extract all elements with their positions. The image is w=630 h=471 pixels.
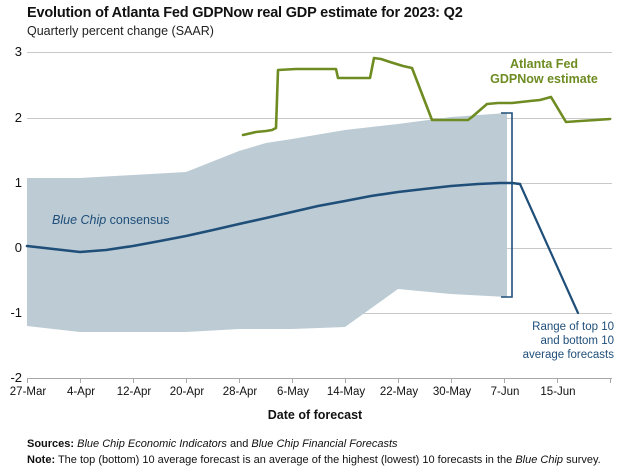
chart-container: Evolution of Atlanta Fed GDPNow real GDP…: [0, 0, 630, 471]
x-axis-title: Date of forecast: [0, 408, 630, 422]
bluechip-annotation: Blue Chip consensus: [52, 213, 169, 227]
x-tick-30-may: 30-May: [422, 386, 482, 398]
note-label: Note:: [27, 454, 55, 466]
x-tick-12-apr: 12-Apr: [104, 386, 164, 398]
x-tick-22-may: 22-May: [369, 386, 429, 398]
x-tick-7-jun: 7-Jun: [475, 386, 535, 398]
note-italic: Blue Chip: [515, 454, 563, 466]
y-tick-2: 2: [0, 110, 22, 125]
note-line: Note: The top (bottom) 10 average foreca…: [27, 453, 617, 469]
x-tick-28-apr: 28-Apr: [210, 386, 270, 398]
sources-and: and: [227, 438, 251, 450]
x-tick-15-jun: 15-Jun: [528, 386, 588, 398]
y-tick-neg1: -1: [0, 305, 22, 320]
sources-pub-b: Blue Chip Financial Forecasts: [251, 438, 397, 450]
gdpnow-annotation: Atlanta Fed GDPNow estimate: [464, 57, 624, 87]
range-annotation-line1: Range of top 10: [468, 320, 614, 334]
range-annotation-line3: average forecasts: [468, 348, 614, 362]
y-tick-neg2: -2: [0, 370, 22, 385]
gdpnow-annotation-line1: Atlanta Fed: [464, 57, 624, 72]
range-annotation: Range of top 10 and bottom 10 average fo…: [468, 320, 614, 362]
x-tick-4-apr: 4-Apr: [51, 386, 111, 398]
x-tick-20-apr: 20-Apr: [157, 386, 217, 398]
sources-label: Sources:: [27, 438, 74, 450]
bluechip-annotation-italic: Blue Chip: [52, 213, 106, 227]
x-tick-6-may: 6-May: [263, 386, 323, 398]
bluechip-annotation-rest: consensus: [106, 213, 169, 227]
y-tick-1: 1: [0, 175, 22, 190]
y-tick-3: 3: [0, 44, 22, 59]
x-tick-27-mar: 27-Mar: [0, 386, 58, 398]
note-text-2: survey.: [563, 454, 601, 466]
range-annotation-line2: and bottom 10: [468, 334, 614, 348]
sources-pub-a: Blue Chip Economic Indicators: [77, 438, 227, 450]
x-axis-ticks: [28, 379, 611, 384]
x-tick-14-may: 14-May: [316, 386, 376, 398]
footnotes: Sources: Blue Chip Economic Indicators a…: [27, 437, 617, 468]
y-tick-0: 0: [0, 240, 22, 255]
gdpnow-annotation-line2: GDPNow estimate: [464, 72, 624, 87]
note-text-1: The top (bottom) 10 average forecast is …: [55, 454, 515, 466]
sources-line: Sources: Blue Chip Economic Indicators a…: [27, 437, 617, 453]
